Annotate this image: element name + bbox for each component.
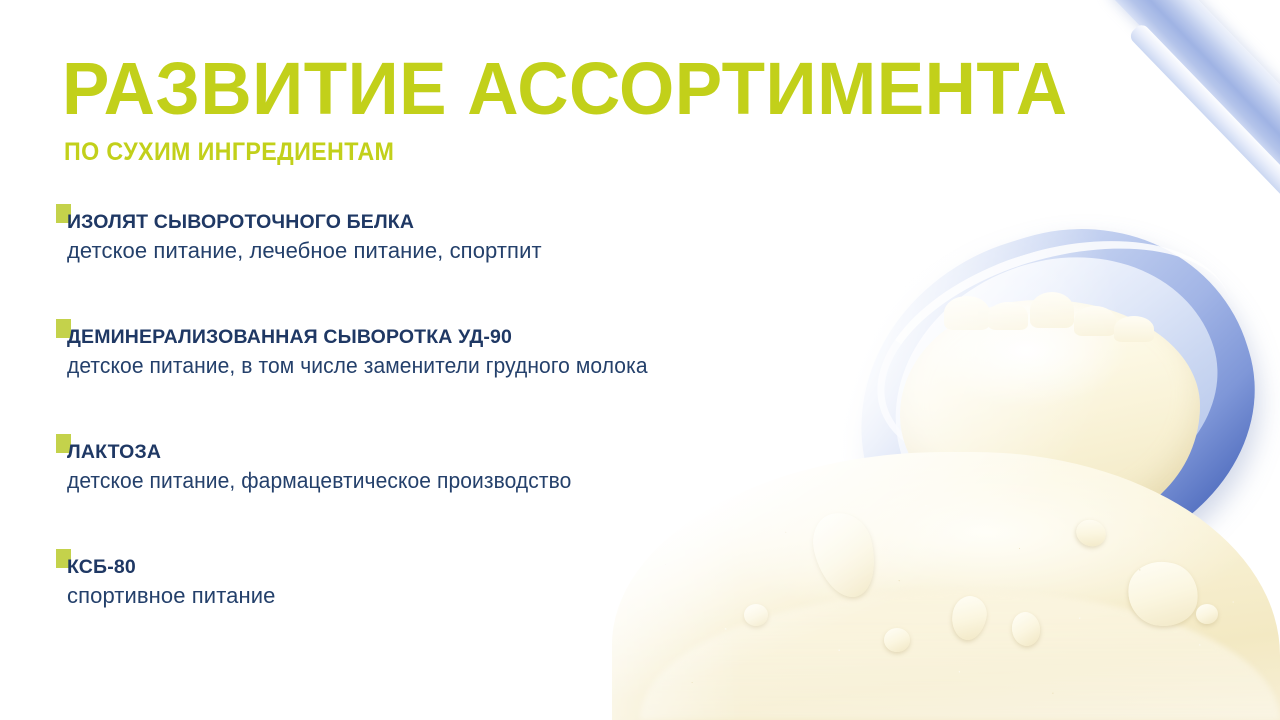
page-subtitle: ПО СУХИМ ИНГРЕДИЕНТАМ — [64, 140, 394, 165]
list-item-heading: ДЕМИНЕРАЛИЗОВАННАЯ СЫВОРОТКА УД-90 — [67, 326, 512, 348]
page-title: РАЗВИТИЕ АССОРТИМЕНТА — [62, 52, 1068, 126]
list-item-description: детское питание, лечебное питание, спорт… — [67, 238, 542, 264]
list-item-description: детское питание, в том числе заменители … — [67, 353, 648, 379]
list-item-heading: КСБ-80 — [67, 556, 136, 578]
list-item: ДЕМИНЕРАЛИЗОВАННАЯ СЫВОРОТКА УД-90 детск… — [56, 317, 876, 432]
list-item-description: детское питание, фармацевтическое произв… — [67, 468, 571, 494]
slide-content: РАЗВИТИЕ АССОРТИМЕНТА ПО СУХИМ ИНГРЕДИЕН… — [0, 0, 1280, 720]
list-item: ЛАКТОЗА детское питание, фармацевтическо… — [56, 432, 876, 547]
ingredient-list: ИЗОЛЯТ СЫВОРОТОЧНОГО БЕЛКА детское питан… — [56, 202, 876, 662]
list-item-description: спортивное питание — [67, 583, 275, 609]
list-item-heading: ЛАКТОЗА — [67, 441, 161, 463]
list-item: КСБ-80 спортивное питание — [56, 547, 876, 662]
slide: РАЗВИТИЕ АССОРТИМЕНТА ПО СУХИМ ИНГРЕДИЕН… — [0, 0, 1280, 720]
list-item-heading: ИЗОЛЯТ СЫВОРОТОЧНОГО БЕЛКА — [67, 211, 414, 233]
list-item: ИЗОЛЯТ СЫВОРОТОЧНОГО БЕЛКА детское питан… — [56, 202, 876, 317]
